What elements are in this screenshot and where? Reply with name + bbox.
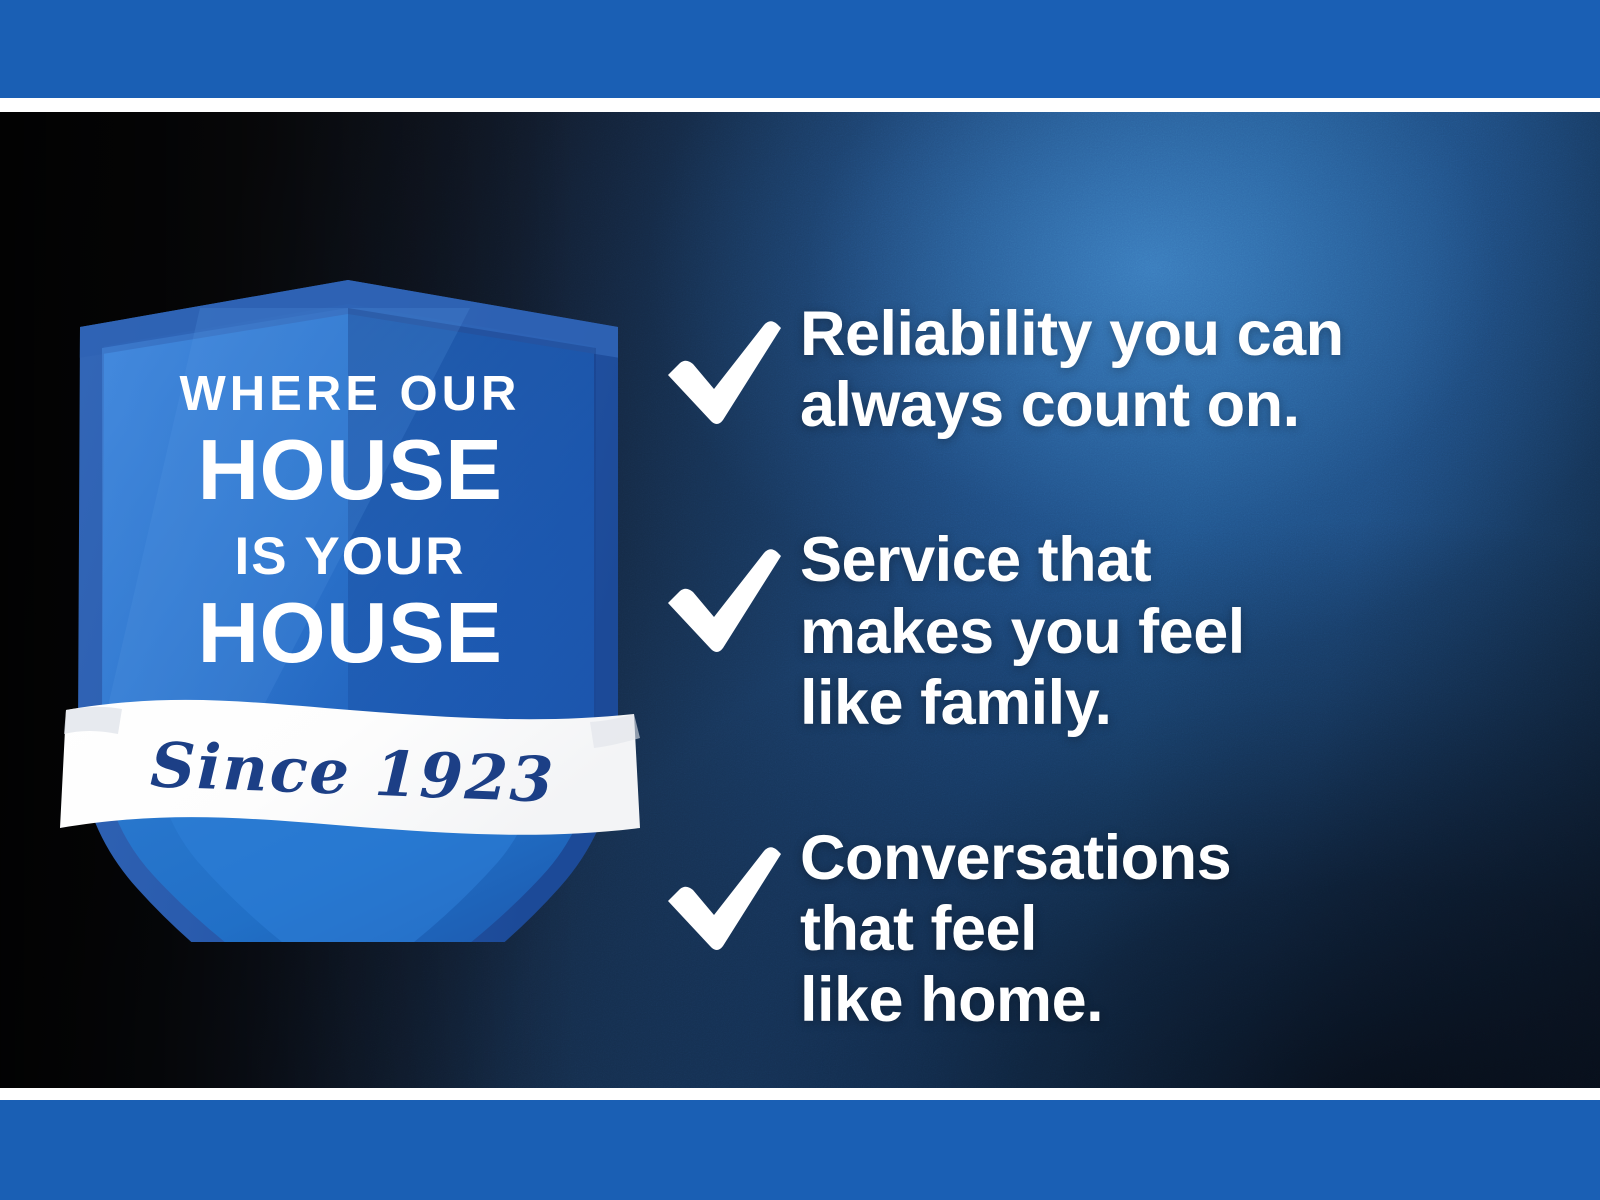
bottom-accent-bar — [0, 1100, 1600, 1200]
bottom-white-divider — [0, 1088, 1600, 1100]
top-white-divider — [0, 98, 1600, 112]
benefits-list: Reliability you can always count on. Ser… — [660, 297, 1560, 1037]
benefit-text: Reliability you can always count on. — [800, 297, 1560, 441]
since-ribbon: Since 1923 — [60, 700, 640, 835]
benefit-item: Conversations that feel like home. — [660, 823, 1560, 1037]
benefit-text: Conversations that feel like home. — [800, 823, 1560, 1037]
ribbon-left-fold — [64, 707, 122, 734]
shield-emblem: WHERE OUR HOUSE IS YOUR HOUSE Since 1923 — [50, 262, 650, 942]
shield-line-is-your: IS YOUR — [235, 527, 466, 586]
poster-stage: WHERE OUR HOUSE IS YOUR HOUSE Since 1923 — [0, 112, 1600, 1088]
check-icon — [660, 297, 800, 427]
benefit-text: Service that makes you feel like family. — [800, 525, 1560, 739]
ribbon-label: Since 1923 — [149, 728, 556, 816]
benefit-item: Reliability you can always count on. — [660, 297, 1560, 441]
check-icon — [660, 525, 800, 655]
shield-line-house-1: HOUSE — [198, 423, 503, 518]
check-icon — [660, 823, 800, 953]
benefit-item: Service that makes you feel like family. — [660, 525, 1560, 739]
promotional-poster: WHERE OUR HOUSE IS YOUR HOUSE Since 1923 — [0, 0, 1600, 1200]
shield-line-house-2: HOUSE — [198, 586, 503, 681]
top-accent-bar — [0, 0, 1600, 98]
shield-line-where: WHERE OUR — [180, 367, 521, 421]
